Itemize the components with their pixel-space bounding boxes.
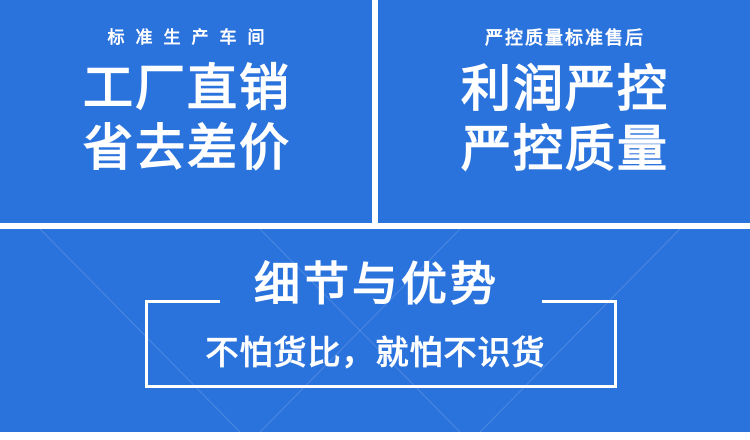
panel-quality-control: 严控质量标准售后 利润严控 严控质量 <box>378 0 750 223</box>
panel-quality-control-content: 严控质量标准售后 利润严控 严控质量 <box>378 0 750 223</box>
panel-left-headline-line1: 工厂直销 <box>81 61 291 115</box>
promo-banner: 标准生产车间 工厂直销 省去差价 严控质量标准售后 利润严控 严控质量 细节与优… <box>0 0 750 440</box>
panel-right-headline-line2: 严控质量 <box>459 122 669 176</box>
panel-left-eyebrow: 标准生产车间 <box>97 30 276 47</box>
bottom-panel-title: 细节与优势 <box>0 261 750 307</box>
panel-right-eyebrow: 严控质量标准售后 <box>483 30 645 48</box>
bottom-panel-subtitle: 不怕货比，就怕不识货 <box>0 336 750 369</box>
panel-factory-direct-content: 标准生产车间 工厂直销 省去差价 <box>0 0 372 223</box>
panel-left-headline-line2: 省去差价 <box>81 121 291 175</box>
panel-right-headline-line1: 利润严控 <box>459 62 669 116</box>
top-panel-row: 标准生产车间 工厂直销 省去差价 严控质量标准售后 利润严控 严控质量 <box>0 0 750 223</box>
panel-factory-direct: 标准生产车间 工厂直销 省去差价 <box>0 0 372 223</box>
